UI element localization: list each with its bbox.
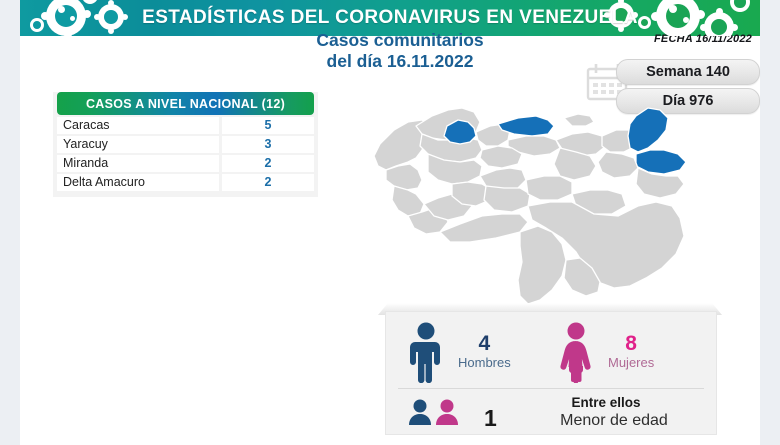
semana-badge[interactable]: Semana 140 xyxy=(616,59,760,85)
map-state xyxy=(484,186,530,212)
table-row: Caracas 5 xyxy=(57,117,314,134)
minor-line1: Entre ellos xyxy=(506,395,706,411)
table-row: Miranda 2 xyxy=(57,155,314,172)
infographic-page: ESTADÍSTICAS DEL CORONAVIRUS EN VENEZUEL… xyxy=(0,0,780,445)
men-count: 4 xyxy=(458,333,511,355)
men-text: 4 Hombres xyxy=(458,333,511,371)
gender-row: 4 Hombres 8 xyxy=(386,316,716,388)
state-cases: 3 xyxy=(222,136,314,153)
map-state xyxy=(598,152,638,178)
page-title: Casos comunitarios del día 16.11.2022 xyxy=(240,30,560,72)
left-margin-strip xyxy=(0,0,20,445)
minor-text: Entre ellos Menor de edad xyxy=(506,395,706,430)
map-state xyxy=(526,176,572,200)
women-count: 8 xyxy=(608,333,654,355)
map-state xyxy=(392,186,424,216)
women-label: Mujeres xyxy=(608,355,654,371)
women-text: 8 Mujeres xyxy=(608,333,654,371)
banner-title: ESTADÍSTICAS DEL CORONAVIRUS EN VENEZUEL… xyxy=(20,0,760,36)
national-cases-table: CASOS A NIVEL NACIONAL (12) Caracas 5 Ya… xyxy=(53,92,318,197)
minor-row: 1 Entre ellos Menor de edad xyxy=(386,392,716,432)
right-margin-strip xyxy=(760,0,780,445)
men-label: Hombres xyxy=(458,355,511,371)
map-state-highlighted xyxy=(628,108,668,152)
state-cases: 2 xyxy=(222,155,314,172)
panel-divider xyxy=(398,388,704,389)
men-stat: 4 Hombres xyxy=(404,316,511,388)
female-person-icon xyxy=(554,321,598,383)
minor-person-icons xyxy=(406,398,468,426)
state-name: Yaracuy xyxy=(57,136,219,153)
map-state xyxy=(386,164,422,190)
male-person-icon xyxy=(404,321,448,383)
watermark-text xyxy=(56,188,296,198)
header-banner: ESTADÍSTICAS DEL CORONAVIRUS EN VENEZUEL… xyxy=(20,0,760,36)
page-title-line2: del día 16.11.2022 xyxy=(240,51,560,72)
minor-line2: Menor de edad xyxy=(522,411,706,430)
state-cases: 5 xyxy=(222,117,314,134)
state-name: Miranda xyxy=(57,155,219,172)
map-state xyxy=(518,226,566,304)
minor-count: 1 xyxy=(484,405,497,432)
gender-panel: 4 Hombres 8 xyxy=(385,311,717,435)
table-header: CASOS A NIVEL NACIONAL (12) xyxy=(57,92,314,115)
women-stat: 8 Mujeres xyxy=(554,316,654,388)
table-row: Yaracuy 3 xyxy=(57,136,314,153)
venezuela-map xyxy=(350,96,710,311)
map-state xyxy=(564,114,594,126)
state-name: Caracas xyxy=(57,117,219,134)
content-canvas: ESTADÍSTICAS DEL CORONAVIRUS EN VENEZUEL… xyxy=(20,0,760,445)
